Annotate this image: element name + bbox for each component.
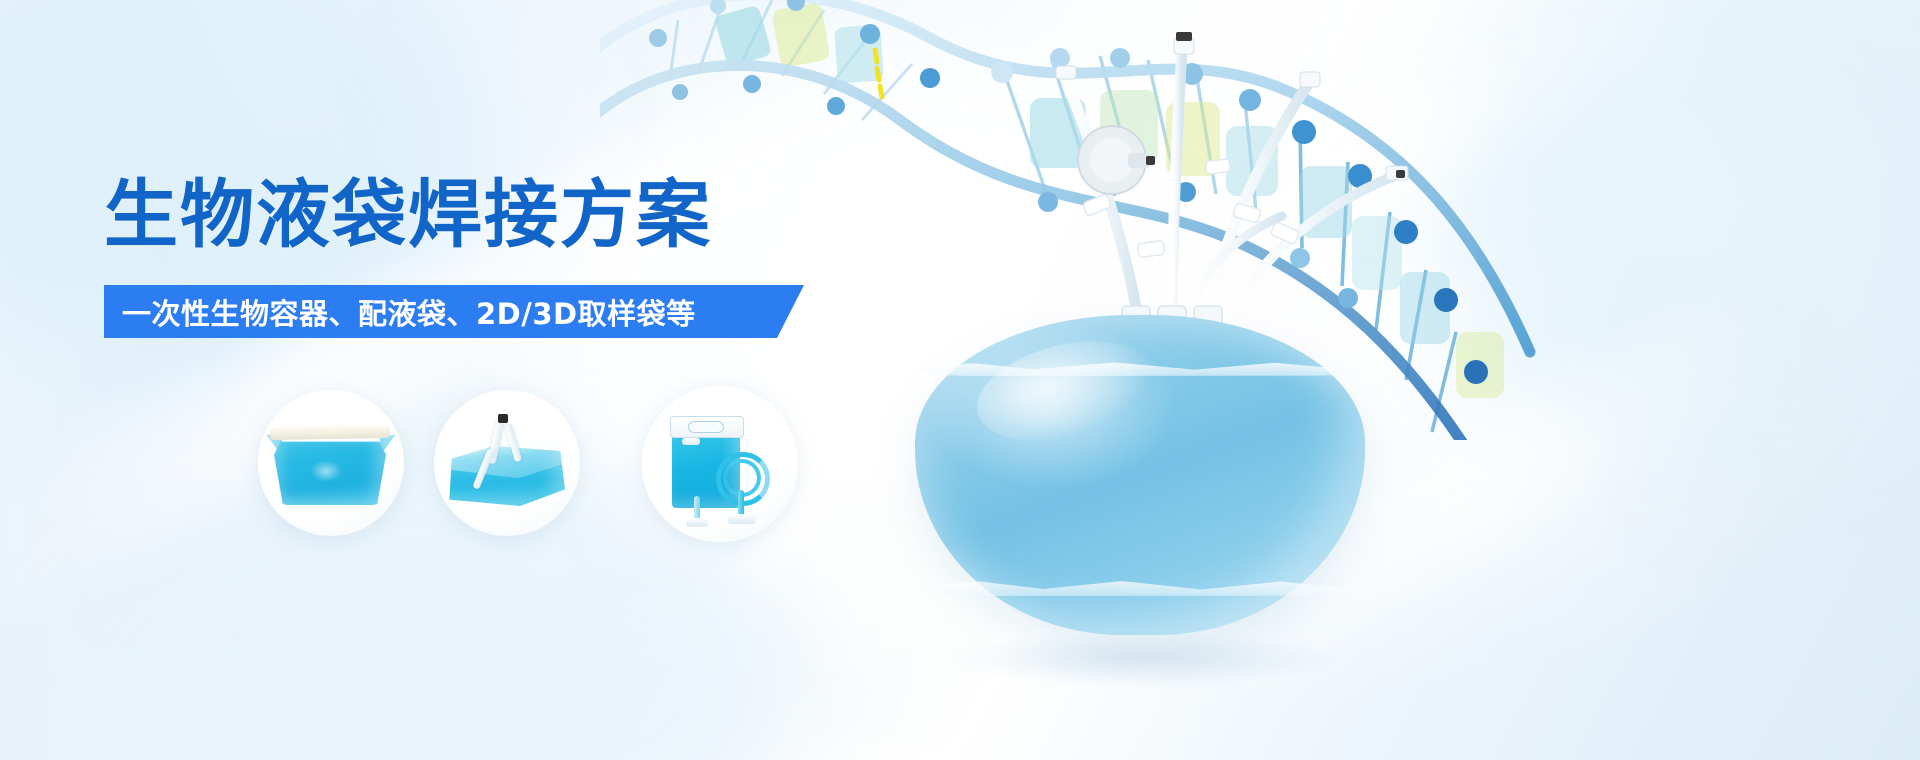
- bg-glow-right: [1450, 0, 1920, 480]
- product-circle-disposable-bio-container[interactable]: [258, 390, 404, 536]
- tube-connector: [686, 518, 708, 527]
- hero-banner: 生物液袋焊接方案 一次性生物容器、配液袋、2D/3D取样袋等: [0, 0, 1920, 760]
- product-circle-sampling-bag[interactable]: [642, 386, 798, 542]
- banner-subtitle-ribbon: 一次性生物容器、配液袋、2D/3D取样袋等: [104, 285, 804, 338]
- bag-hanger-hole: [688, 421, 724, 433]
- product-circle-mixing-bag[interactable]: [434, 390, 580, 536]
- banner-subtitle: 一次性生物容器、配液袋、2D/3D取样袋等: [104, 291, 696, 333]
- hexagon-shape: [1560, 250, 1866, 586]
- bag-port: [682, 438, 700, 445]
- bag-port-cap: [498, 414, 508, 423]
- tubing-manifold-icon: [990, 10, 1420, 340]
- hero-bioprocess-bag: [880, 240, 1520, 760]
- bag-highlight: [310, 460, 342, 482]
- hero-bag-shadow: [950, 632, 1340, 686]
- tube-connector: [728, 514, 756, 524]
- banner-title: 生物液袋焊接方案: [104, 176, 712, 256]
- bag-seal-strip: [270, 425, 390, 440]
